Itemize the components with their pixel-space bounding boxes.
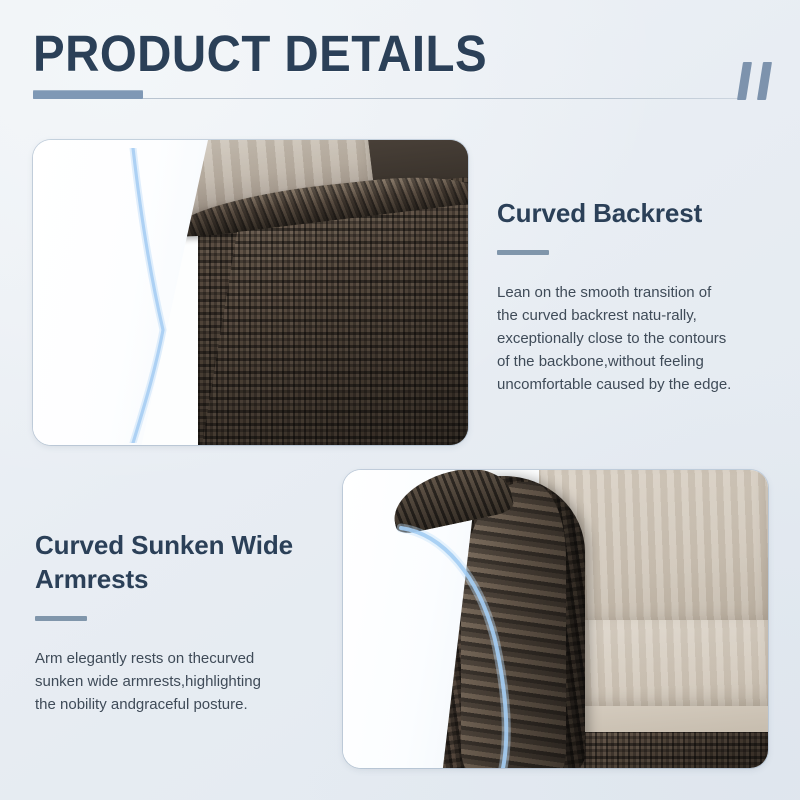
feature-body-line: Arm elegantly rests on thecurved xyxy=(35,647,305,670)
product-details-page: PRODUCT DETAILS xyxy=(0,0,800,800)
feature-body-line: uncomfortable caused by the edge. xyxy=(497,373,775,396)
photo-white-backdrop xyxy=(33,140,208,445)
quote-bar-first xyxy=(737,62,752,100)
page-header: PRODUCT DETAILS xyxy=(0,0,800,120)
feature-block-curved-backrest: Curved Backrest Lean on the smooth trans… xyxy=(497,196,775,396)
curved-sunken-armrest-photo-card xyxy=(343,470,768,768)
feature-heading-line: Curved Backrest xyxy=(497,198,702,228)
curved-sunken-armrest-photo xyxy=(343,470,768,768)
feature-body-line: the nobility andgraceful posture. xyxy=(35,693,305,716)
feature-body-line: sunken wide armrests,highlighting xyxy=(35,670,305,693)
quote-mark-icon xyxy=(734,62,782,102)
feature-body-line: Lean on the smooth transition of xyxy=(497,281,775,304)
feature-body-line: of the backbone,without feeling xyxy=(497,350,775,373)
feature-heading: Curved Sunken Wide Armrests xyxy=(35,528,305,596)
page-title: PRODUCT DETAILS xyxy=(33,25,487,83)
quote-bar-second xyxy=(757,62,772,100)
feature-body: Arm elegantly rests on thecurved sunken … xyxy=(35,621,305,716)
feature-heading-line: Curved Sunken xyxy=(35,530,224,560)
feature-body-line: exceptionally close to the contours xyxy=(497,327,775,350)
curved-backrest-photo xyxy=(33,140,468,445)
feature-body: Lean on the smooth transition of the cur… xyxy=(497,255,775,396)
rattan-armrest-outer xyxy=(461,482,566,768)
curved-backrest-photo-card xyxy=(33,140,468,445)
header-divider xyxy=(33,90,738,102)
feature-body-line: the curved backrest natu-rally, xyxy=(497,304,775,327)
feature-block-curved-sunken-wide-armrests: Curved Sunken Wide Armrests Arm elegantl… xyxy=(35,528,305,716)
header-divider-accent-bar xyxy=(33,90,143,99)
feature-heading: Curved Backrest xyxy=(497,196,775,230)
